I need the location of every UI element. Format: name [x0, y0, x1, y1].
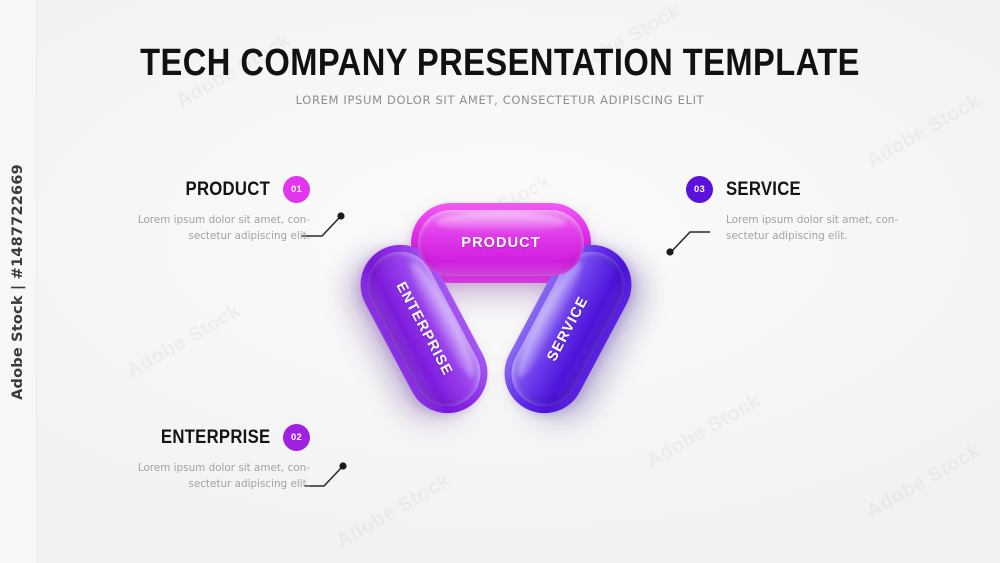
pill-label-product: PRODUCT	[461, 235, 540, 251]
info-body-service: Lorem ipsum dolor sit amet, con- sectetu…	[726, 212, 906, 244]
stock-credit-strip: Adobe Stock | #1487722669	[0, 0, 37, 563]
slide-header: TECH COMPANY PRESENTATION TEMPLATE LOREM…	[0, 42, 1000, 107]
info-title-service: SERVICE	[726, 179, 801, 201]
badge-01[interactable]: 01	[283, 176, 310, 203]
info-block-service: 03 SERVICE Lorem ipsum dolor sit amet, c…	[686, 176, 916, 244]
info-title-enterprise: ENTERPRISE	[161, 427, 270, 449]
info-head: PRODUCT 01	[100, 176, 310, 203]
info-body-product: Lorem ipsum dolor sit amet, con- sectetu…	[130, 212, 310, 244]
stock-credit-text: Adobe Stock | #1487722669	[10, 164, 26, 400]
badge-02[interactable]: 02	[283, 424, 310, 451]
info-body-enterprise: Lorem ipsum dolor sit amet, con- sectetu…	[130, 460, 310, 492]
badge-03[interactable]: 03	[686, 176, 713, 203]
info-head: ENTERPRISE 02	[100, 424, 310, 451]
pill-product[interactable]: PRODUCT	[411, 203, 591, 283]
info-block-product: PRODUCT 01 Lorem ipsum dolor sit amet, c…	[100, 176, 310, 244]
slide-canvas: Adobe Stock Adobe Stock Adobe Stock Adob…	[0, 0, 1000, 563]
info-title-product: PRODUCT	[185, 179, 270, 201]
info-head: 03 SERVICE	[686, 176, 916, 203]
page-title: TECH COMPANY PRESENTATION TEMPLATE	[70, 42, 930, 84]
connector-line-enterprise	[302, 450, 362, 500]
page-subtitle: LOREM IPSUM DOLOR SIT AMET, CONSECTETUR …	[0, 93, 1000, 107]
info-block-enterprise: ENTERPRISE 02 Lorem ipsum dolor sit amet…	[100, 424, 310, 492]
